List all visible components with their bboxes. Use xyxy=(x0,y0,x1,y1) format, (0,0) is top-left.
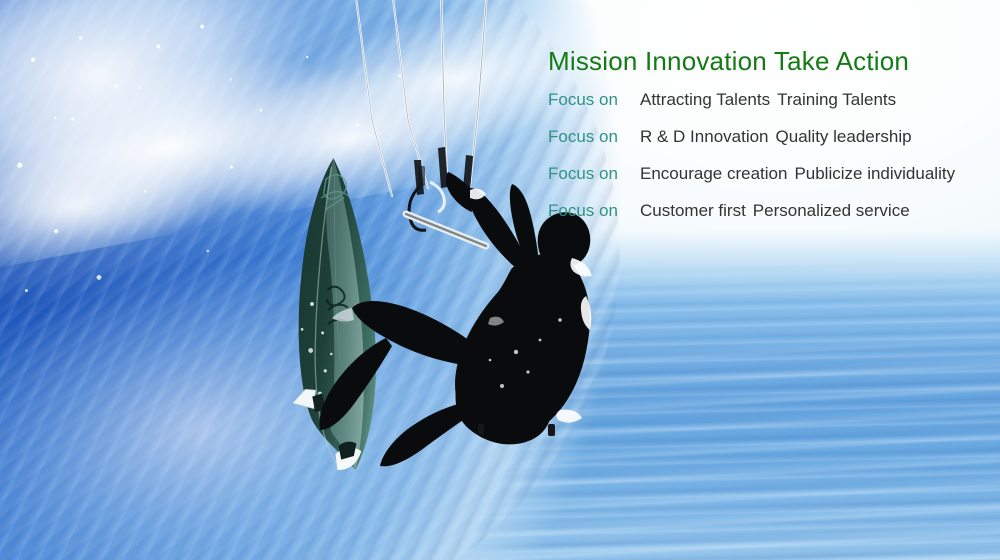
page-title: Mission Innovation Take Action xyxy=(548,44,988,78)
focus-text-3-part1: Encourage creation xyxy=(640,164,787,183)
focus-text-1: Attracting TalentsTraining Talents xyxy=(640,90,896,110)
focus-row-3: Focus on Encourage creationPublicize ind… xyxy=(548,164,988,201)
focus-label-4: Focus on xyxy=(548,201,640,221)
hero-banner: Mission Innovation Take Action Focus on … xyxy=(0,0,1000,560)
focus-row-2: Focus on R & D InnovationQuality leaders… xyxy=(548,127,988,164)
focus-text-3-part2: Publicize individuality xyxy=(794,164,955,183)
focus-text-4-part2: Personalized service xyxy=(753,201,910,220)
focus-text-1-part2: Training Talents xyxy=(777,90,896,109)
focus-label-3: Focus on xyxy=(548,164,640,184)
focus-text-2-part1: R & D Innovation xyxy=(640,127,769,146)
focus-text-2: R & D InnovationQuality leadership xyxy=(640,127,912,147)
banner-copy: Mission Innovation Take Action Focus on … xyxy=(548,44,988,238)
focus-text-2-part2: Quality leadership xyxy=(776,127,912,146)
focus-text-4-part1: Customer first xyxy=(640,201,746,220)
focus-text-1-part1: Attracting Talents xyxy=(640,90,770,109)
focus-row-1: Focus on Attracting TalentsTraining Tale… xyxy=(548,90,988,127)
focus-row-4: Focus on Customer firstPersonalized serv… xyxy=(548,201,988,238)
focus-text-4: Customer firstPersonalized service xyxy=(640,201,910,221)
focus-label-1: Focus on xyxy=(548,90,640,110)
focus-label-2: Focus on xyxy=(548,127,640,147)
focus-text-3: Encourage creationPublicize individualit… xyxy=(640,164,955,184)
